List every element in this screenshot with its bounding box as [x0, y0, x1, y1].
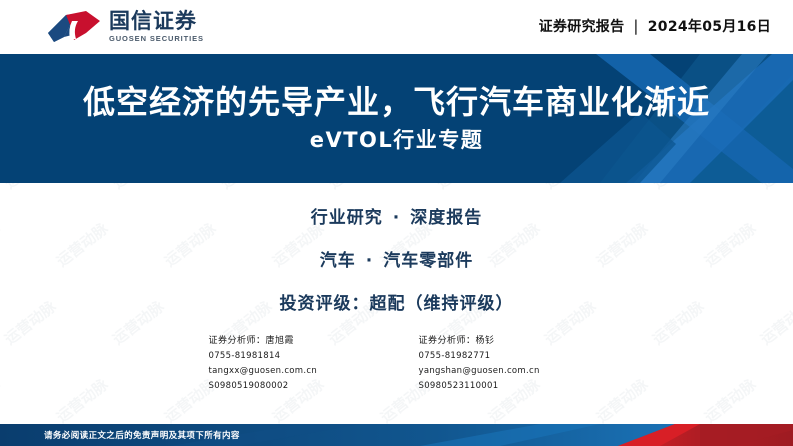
research-depth-label: 深度报告	[410, 208, 482, 228]
analyst-phone: 0755-81982771	[419, 349, 607, 364]
report-subtitle: eVTOL行业专题	[310, 129, 484, 152]
meta-line-research: 行业研究·深度报告	[311, 203, 482, 228]
report-cover-page: 运营动脉运营动脉运营动脉运营动脉运营动脉运营动脉运营动脉运营动脉运营动脉运营动脉…	[0, 0, 793, 446]
analyst-email[interactable]: yangshan@guosen.com.cn	[419, 364, 607, 379]
brand-logo: 国信证券 GUOSEN SECURITIES	[46, 9, 204, 45]
page-footer: 请务必阅读正文之后的免责声明及其项下所有内容	[0, 424, 793, 446]
footer-disclaimer: 请务必阅读正文之后的免责声明及其项下所有内容	[44, 424, 240, 446]
header-divider: |	[633, 17, 638, 35]
guosen-diamond-icon	[46, 9, 102, 45]
brand-name-en: GUOSEN SECURITIES	[109, 35, 204, 43]
analyst-card: 证券分析师：唐旭霞 0755-81981814 tangxx@guosen.co…	[187, 334, 397, 393]
header-meta: 证券研究报告 | 2024年05月16日	[539, 16, 771, 36]
report-date: 2024年05月16日	[648, 16, 771, 36]
report-title: 低空经济的先导产业，飞行汽车商业化渐近	[83, 85, 710, 120]
report-meta-block: 行业研究·深度报告 汽车·汽车零部件 投资评级：超配（维持评级）	[0, 183, 793, 314]
analyst-license: S0980523110001	[419, 379, 607, 394]
analyst-email[interactable]: tangxx@guosen.com.cn	[209, 364, 397, 379]
banner-title-group: 低空经济的先导产业，飞行汽车商业化渐近 eVTOL行业专题	[0, 54, 793, 183]
meta-line-sector: 汽车·汽车零部件	[320, 246, 473, 271]
subsector-label: 汽车零部件	[383, 251, 473, 271]
sector-label: 汽车	[320, 251, 356, 271]
analyst-license: S0980519080002	[209, 379, 397, 394]
title-banner: 低空经济的先导产业，飞行汽车商业化渐近 eVTOL行业专题	[0, 54, 793, 183]
analyst-phone: 0755-81981814	[209, 349, 397, 364]
meta-dot-1: ·	[383, 208, 410, 228]
analyst-name: 证券分析师：唐旭霞	[209, 334, 397, 349]
analyst-list: 证券分析师：唐旭霞 0755-81981814 tangxx@guosen.co…	[0, 334, 793, 393]
research-type-label: 行业研究	[311, 208, 383, 228]
page-header: 国信证券 GUOSEN SECURITIES 证券研究报告 | 2024年05月…	[0, 0, 793, 54]
brand-logo-text: 国信证券 GUOSEN SECURITIES	[109, 11, 204, 43]
analyst-card: 证券分析师：杨钐 0755-81982771 yangshan@guosen.c…	[397, 334, 607, 393]
investment-rating: 投资评级：超配（维持评级）	[280, 289, 514, 314]
report-type-label: 证券研究报告	[539, 16, 625, 36]
brand-name-cn: 国信证券	[109, 11, 204, 32]
meta-dot-2: ·	[356, 251, 383, 271]
analyst-name: 证券分析师：杨钐	[419, 334, 607, 349]
